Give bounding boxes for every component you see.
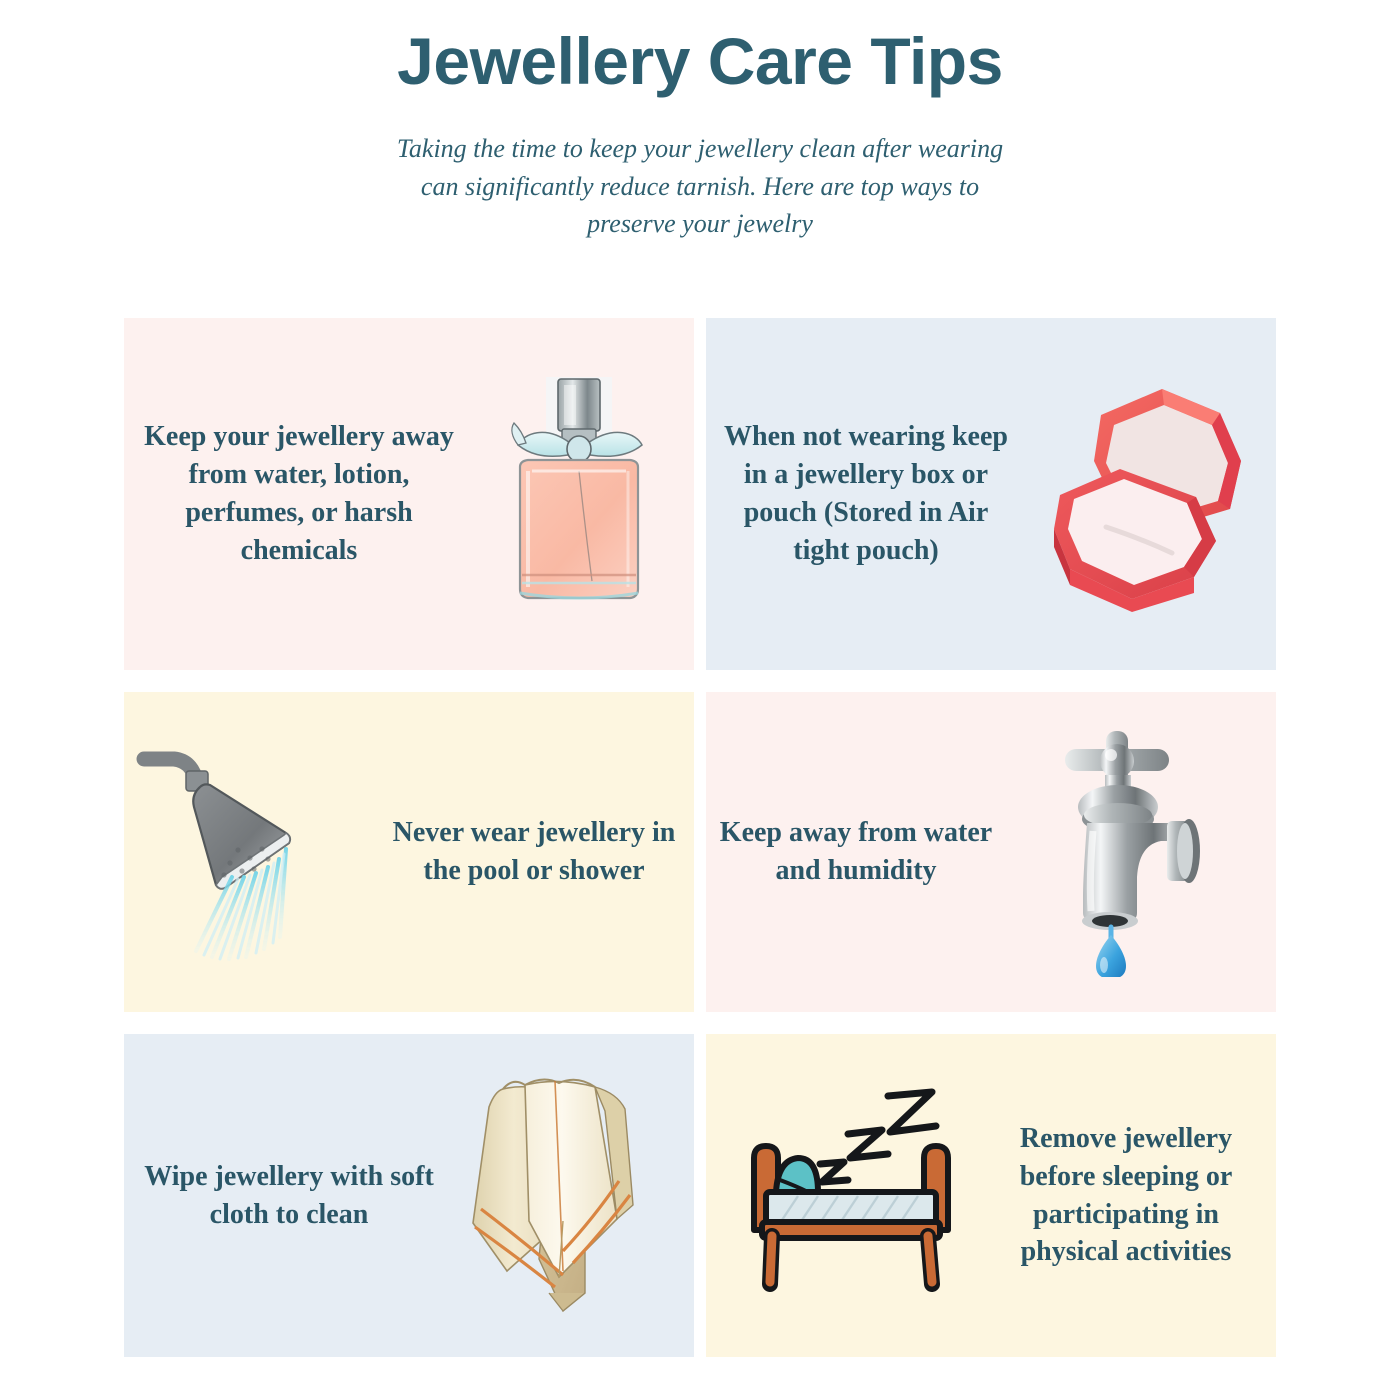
tip-text: When not wearing keep in a jewellery box… — [706, 418, 1026, 569]
tip-card-wipe-cloth: Wipe jewellery with soft cloth to clean — [124, 1034, 694, 1357]
shower-head-icon — [124, 692, 374, 1012]
tips-grid: Keep your jewellery away from water, lot… — [124, 318, 1276, 1357]
polishing-cloth-icon — [454, 1034, 664, 1357]
tip-card-storage: When not wearing keep in a jewellery box… — [706, 318, 1276, 670]
tip-text: Wipe jewellery with soft cloth to clean — [124, 1158, 454, 1234]
page-subtitle: Taking the time to keep your jewellery c… — [380, 130, 1020, 243]
perfume-bottle-icon — [474, 318, 684, 670]
tip-card-chemicals: Keep your jewellery away from water, lot… — [124, 318, 694, 670]
tip-text: Keep your jewellery away from water, lot… — [124, 418, 474, 569]
infographic-page: Jewellery Care Tips Taking the time to k… — [0, 0, 1400, 1400]
tip-card-humidity: Keep away from water and humidity — [706, 692, 1276, 1012]
faucet-drip-icon — [1006, 692, 1236, 1012]
jewellery-box-icon — [1026, 318, 1276, 670]
tip-text: Keep away from water and humidity — [706, 814, 1006, 890]
header: Jewellery Care Tips Taking the time to k… — [0, 0, 1400, 243]
bed-sleep-icon — [726, 1034, 976, 1357]
tip-text: Never wear jewellery in the pool or show… — [374, 814, 694, 890]
tip-card-pool-shower: Never wear jewellery in the pool or show… — [124, 692, 694, 1012]
tip-card-sleeping: Remove jewellery before sleeping or part… — [706, 1034, 1276, 1357]
page-title: Jewellery Care Tips — [0, 24, 1400, 100]
tip-text: Remove jewellery before sleeping or part… — [976, 1120, 1276, 1271]
